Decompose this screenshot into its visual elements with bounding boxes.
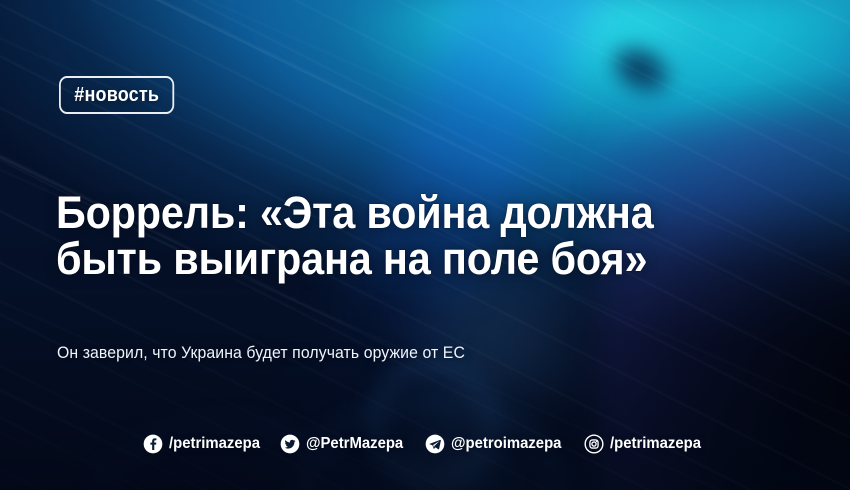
telegram-icon (425, 434, 445, 454)
social-link-telegram[interactable]: @petroimazepa (425, 434, 570, 454)
social-links-bar: /petrimazepa @PetrMazepa @petroimazepa (0, 434, 850, 454)
card-content: #новость Боррель: «Эта война должна быть… (0, 0, 850, 490)
social-handle-instagram: /petrimazepa (610, 434, 701, 454)
subtitle: Он заверил, что Украина будет получать о… (57, 342, 465, 363)
social-handle-twitter: @PetrMazepa (306, 434, 403, 454)
social-handle-facebook: /petrimazepa (169, 434, 260, 454)
social-link-twitter[interactable]: @PetrMazepa (280, 434, 411, 454)
social-handle-telegram: @petroimazepa (451, 434, 561, 454)
twitter-icon (280, 434, 300, 454)
facebook-icon (143, 434, 163, 454)
social-link-facebook[interactable]: /petrimazepa (143, 434, 267, 454)
social-link-instagram[interactable]: /petrimazepa (584, 434, 708, 454)
headline: Боррель: «Эта война должна быть выиграна… (56, 190, 700, 282)
news-card: #новость Боррель: «Эта война должна быть… (0, 0, 850, 490)
instagram-icon (584, 434, 604, 454)
category-badge[interactable]: #новость (59, 76, 174, 114)
